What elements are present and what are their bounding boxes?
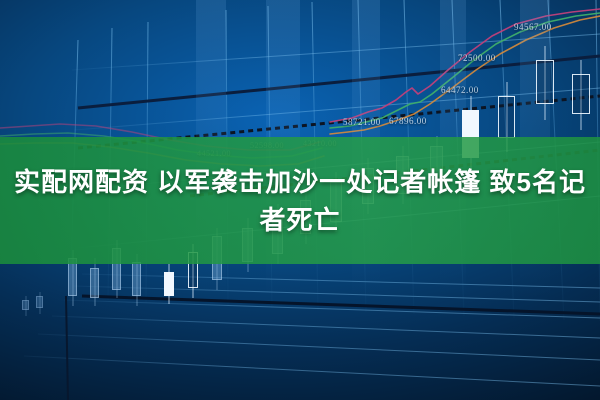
candle-body bbox=[164, 272, 174, 296]
price-label: 64472.00 bbox=[441, 85, 479, 95]
candle-body bbox=[22, 300, 29, 310]
price-label: 58721.00 bbox=[343, 117, 381, 127]
price-label: 94567.00 bbox=[514, 22, 552, 32]
candle-body bbox=[132, 262, 141, 296]
candle-body bbox=[36, 296, 43, 308]
candle-body bbox=[90, 268, 99, 298]
candle-body bbox=[536, 60, 554, 104]
candle-body bbox=[498, 96, 515, 138]
price-label: 72500.00 bbox=[458, 53, 496, 63]
candlestick bbox=[22, 296, 29, 316]
candle-body bbox=[572, 74, 590, 114]
candlestick bbox=[90, 258, 99, 306]
candlestick bbox=[164, 264, 174, 304]
headline-text: 实配网配资 以军袭击加沙一处记者帐篷 致5名记者死亡 bbox=[0, 137, 600, 264]
candlestick bbox=[36, 292, 43, 314]
candlestick bbox=[572, 60, 590, 130]
candlestick bbox=[536, 46, 554, 120]
chart-image: 58721.0067896.0064472.0072500.0094567.00… bbox=[0, 0, 600, 400]
price-label: 67896.00 bbox=[389, 116, 427, 126]
